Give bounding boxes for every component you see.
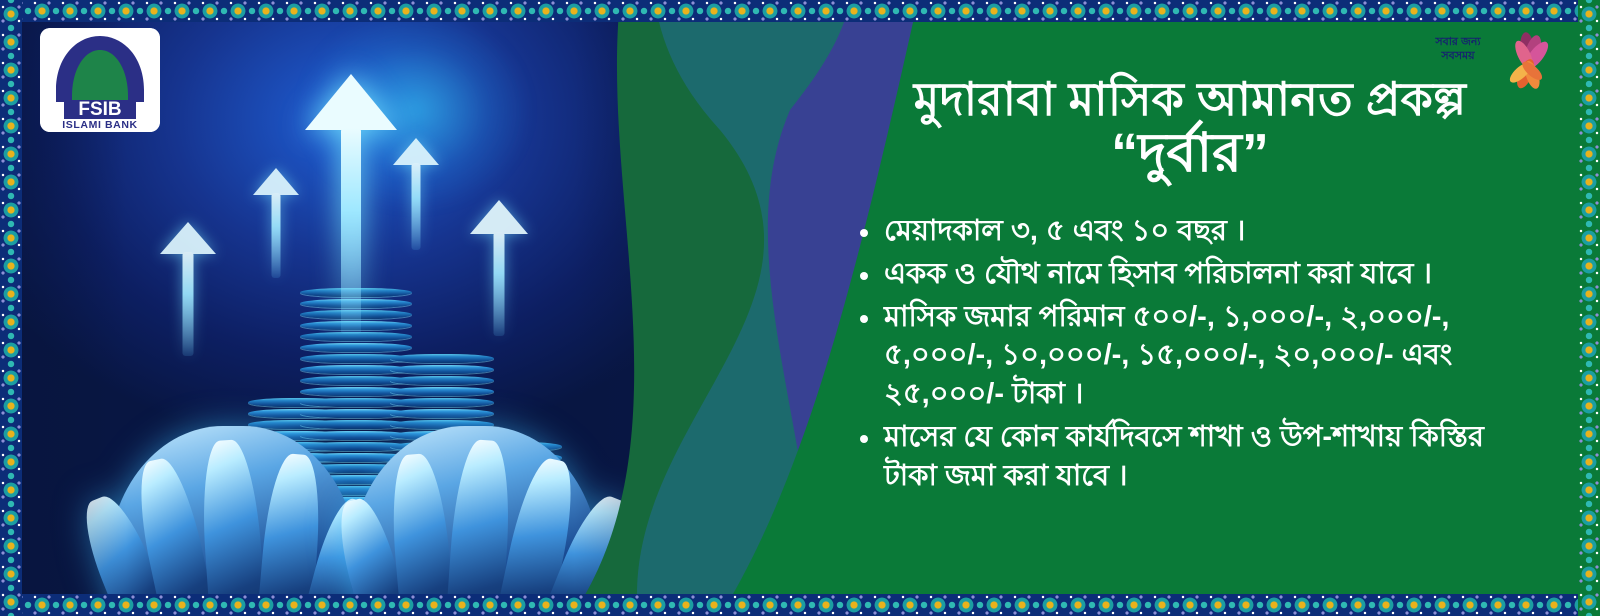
tagline-line-1: সবার জন্য: [1410, 36, 1506, 50]
feature-list: মেয়াদকাল ৩, ৫ এবং ১০ বছর । একক ও যৌথ না…: [854, 212, 1540, 496]
brand-tagline-mark: সবার জন্য সবসময়: [1410, 30, 1560, 94]
fsib-logo-mark: FSIB ISLAMI BANK: [40, 28, 160, 132]
tagline-text: সবার জন্য সবসময়: [1410, 36, 1506, 64]
tagline-line-2: সবসময়: [1410, 50, 1506, 64]
promotional-banner: FSIB ISLAMI BANK সবার জন্য সবসময় মুদারা: [0, 0, 1600, 616]
product-name: “দুর্বার”: [840, 124, 1540, 182]
fsib-logo[interactable]: FSIB ISLAMI BANK: [40, 28, 160, 132]
list-item: মাসের যে কোন কার্যদিবসে শাখা ও উপ-শাখায়…: [854, 418, 1540, 496]
logo-subtitle-text: ISLAMI BANK: [62, 119, 137, 131]
promo-content: মুদারাবা মাসিক আমানত প্রকল্প “দুর্বার” ম…: [840, 74, 1540, 500]
list-item: মাসিক জমার পরিমান ৫০০/-, ১,০০০/-, ২,০০০/…: [854, 298, 1540, 415]
list-item: মেয়াদকাল ৩, ৫ এবং ১০ বছর ।: [854, 212, 1540, 251]
logo-abbr-text: FSIB: [78, 99, 121, 120]
lotus-flower-icon: [1498, 30, 1560, 94]
list-item: একক ও যৌথ নামে হিসাব পরিচালনা করা যাবে ।: [854, 255, 1540, 294]
